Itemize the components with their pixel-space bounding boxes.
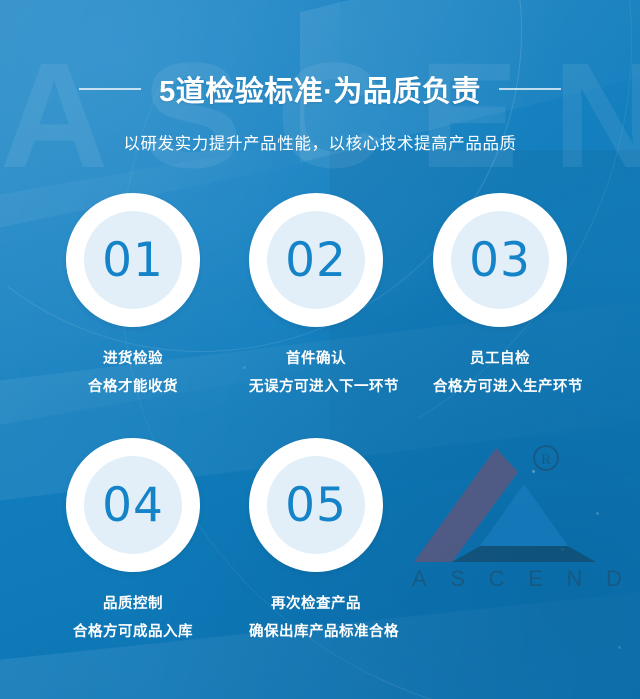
logo-letter-d: D [606,566,622,592]
step-caption-line2: 合格方可进入生产环节 [433,375,567,396]
step-caption-line1: 员工自检 [433,347,567,368]
logo-letter-n: N [567,566,583,592]
step-caption-line1: 首件确认 [249,347,383,368]
step-number: 05 [285,482,347,529]
step-item-01[interactable]: 01 进货检验 合格才能收货 [66,193,200,396]
step-caption-line2: 合格方可成品入库 [66,620,200,641]
step-circle-inner: 02 [267,211,365,309]
step-caption: 进货检验 合格才能收货 [66,347,200,396]
step-circle: 05 [249,438,383,572]
step-caption: 品质控制 合格方可成品入库 [66,592,200,641]
logo-letter-e: E [528,566,543,592]
logo-letter-c: C [489,566,505,592]
step-caption-line1: 品质控制 [66,592,200,613]
step-caption: 首件确认 无误方可进入下一环节 [249,347,383,396]
step-caption-line2: 无误方可进入下一环节 [249,375,383,396]
step-caption: 员工自检 合格方可进入生产环节 [433,347,567,396]
step-item-04[interactable]: 04 品质控制 合格方可成品入库 [66,438,200,641]
step-item-02[interactable]: 02 首件确认 无误方可进入下一环节 [249,193,383,396]
step-circle: 01 [66,193,200,327]
step-number: 02 [285,237,347,284]
step-circle: 03 [433,193,567,327]
logo-triangle-base [452,546,596,562]
step-caption: 再次检查产品 确保出库产品标准合格 [249,592,383,641]
step-caption-line2: 合格才能收货 [66,375,200,396]
step-number: 01 [102,237,164,284]
step-caption-line1: 再次检查产品 [249,592,383,613]
step-circle-inner: 01 [84,211,182,309]
step-item-05[interactable]: 05 再次检查产品 确保出库产品标准合格 [249,438,383,641]
step-circle-inner: 04 [84,456,182,554]
registered-mark-letter: R [541,452,551,468]
step-circle-inner: 03 [451,211,549,309]
step-number: 03 [469,237,531,284]
brand-logo-watermark: R A S C E N D [410,440,625,600]
logo-letter-a: A [412,566,427,592]
step-circle: 04 [66,438,200,572]
step-circle-inner: 05 [267,456,365,554]
step-circle: 02 [249,193,383,327]
step-number: 04 [102,482,164,529]
poster-canvas: ASCEND 5道检验标准·为品质负责 以研发实力提升产品性能，以核心技术提高产… [0,0,640,699]
logo-wordmark: A S C E N D [410,566,622,592]
step-caption-line1: 进货检验 [66,347,200,368]
ascend-mark-icon: R [410,440,625,570]
step-caption-line2: 确保出库产品标准合格 [249,620,383,641]
logo-letter-s: S [450,566,465,592]
step-item-03[interactable]: 03 员工自检 合格方可进入生产环节 [433,193,567,396]
